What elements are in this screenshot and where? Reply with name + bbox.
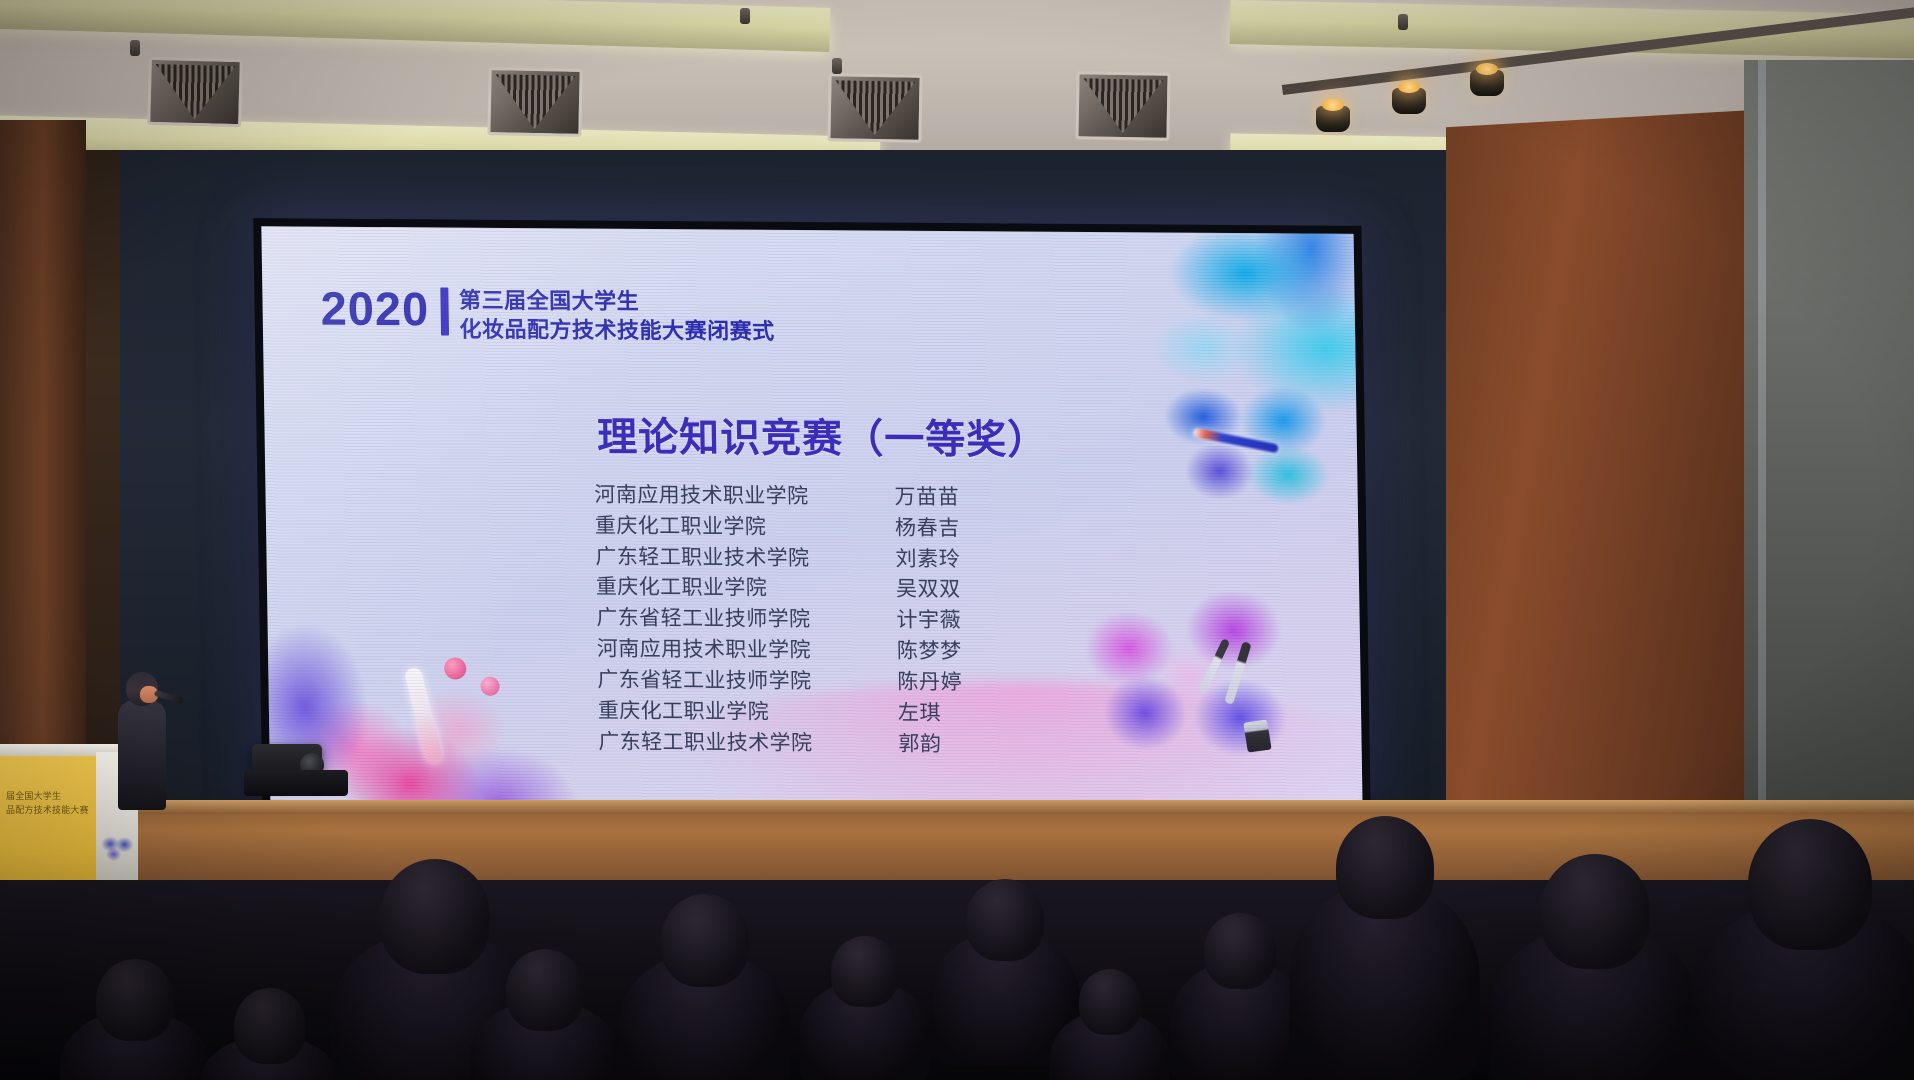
- auditorium-photo: 2020 第三届全国大学生 化妆品配方技术技能大赛闭赛式 理论知识竞赛（一等奖）…: [0, 0, 1914, 1080]
- winner-school: 重庆化工职业学院: [596, 573, 897, 605]
- cosmetic-applicator-icon: [444, 657, 466, 679]
- winner-row: 河南应用技术职业学院万苗苗: [594, 480, 1067, 513]
- cosmetic-tube-icon: [404, 667, 444, 764]
- air-vent-icon: [1075, 71, 1170, 141]
- audience-member-head: [966, 879, 1044, 961]
- audience-member-head: [1748, 819, 1873, 950]
- right-side-panel: [1744, 60, 1914, 900]
- winner-row: 广东轻工职业技术学院刘素玲: [595, 542, 1068, 575]
- winner-row: 重庆化工职业学院杨春吉: [595, 511, 1068, 544]
- winner-name: 吴双双: [896, 575, 961, 605]
- award-category-label: 理论知识竞赛（一等奖）: [597, 405, 1049, 466]
- winner-name: 陈丹婷: [897, 667, 962, 697]
- header-divider: [440, 287, 449, 335]
- winner-row: 河南应用技术职业学院陈梦梦: [597, 635, 1070, 668]
- winner-name: 计宇薇: [896, 606, 961, 636]
- winners-list: 河南应用技术职业学院万苗苗重庆化工职业学院杨春吉广东轻工职业技术学院刘素玲重庆化…: [594, 480, 1070, 760]
- winner-name: 郭韵: [898, 729, 942, 759]
- sprinkler-icon: [130, 40, 140, 56]
- audience-member-head: [234, 988, 307, 1064]
- makeup-brush-icon: [1224, 641, 1251, 705]
- audience-member-head: [1540, 854, 1649, 969]
- winner-row: 广东省轻工业技师学院计宇薇: [596, 604, 1069, 637]
- ceiling-light-band: [0, 0, 830, 52]
- audience-member-head: [506, 949, 584, 1031]
- sprinkler-icon: [1398, 14, 1408, 30]
- winner-row: 广东轻工职业技术学院郭韵: [598, 727, 1071, 760]
- winner-school: 重庆化工职业学院: [595, 511, 896, 543]
- winner-school: 广东省轻工业技师学院: [596, 604, 897, 636]
- led-screen: 2020 第三届全国大学生 化妆品配方技术技能大赛闭赛式 理论知识竞赛（一等奖）…: [253, 218, 1371, 822]
- audience-member-head: [1079, 969, 1141, 1035]
- slide-header: 2020 第三届全国大学生 化妆品配方技术技能大赛闭赛式: [320, 285, 775, 345]
- podium-banner-line1: 届全国大学生: [6, 790, 102, 804]
- event-year: 2020: [320, 285, 429, 333]
- audience-member-head: [1336, 816, 1435, 920]
- winner-school: 广东省轻工业技师学院: [597, 665, 898, 697]
- speaker-body: [118, 700, 166, 810]
- event-name-line1: 第三届全国大学生: [459, 288, 774, 316]
- audience-member-head: [661, 894, 749, 987]
- stage-spotlight: [1470, 70, 1504, 96]
- camera-rig: [244, 770, 348, 796]
- winner-name: 刘素玲: [895, 544, 960, 574]
- audience-member-head: [1204, 913, 1277, 989]
- air-vent-icon: [487, 67, 582, 137]
- air-vent-icon: [827, 73, 922, 143]
- stage-spotlight: [1392, 88, 1426, 114]
- sprinkler-icon: [740, 8, 750, 24]
- winner-name: 左琪: [898, 698, 942, 728]
- makeup-brush-icon: [1198, 638, 1230, 694]
- winner-school: 河南应用技术职业学院: [594, 480, 895, 512]
- podium-butterfly-icon: [100, 832, 134, 862]
- event-name-line2: 化妆品配方技术技能大赛闭赛式: [459, 317, 774, 345]
- winner-row: 重庆化工职业学院左琪: [598, 696, 1071, 729]
- winner-school: 广东轻工职业技术学院: [598, 727, 899, 759]
- presentation-slide: 2020 第三届全国大学生 化妆品配方技术技能大赛闭赛式 理论知识竞赛（一等奖）…: [261, 226, 1362, 814]
- winner-school: 重庆化工职业学院: [598, 696, 899, 728]
- stage-edge: [0, 800, 1914, 814]
- right-wood-panel: [1446, 109, 1776, 887]
- purple-butterfly-icon: [1063, 576, 1316, 768]
- award-category-title: 理论知识竞赛（一等奖）: [264, 402, 1357, 468]
- sprinkler-icon: [832, 58, 842, 74]
- winner-name: 杨春吉: [895, 513, 960, 543]
- winner-school: 河南应用技术职业学院: [597, 635, 898, 667]
- makeup-brush-icon: [1243, 720, 1271, 753]
- audience-member-head: [380, 859, 489, 974]
- stage-spotlight: [1316, 106, 1350, 132]
- winner-name: 万苗苗: [894, 483, 959, 513]
- audience-member-head: [831, 936, 899, 1007]
- cosmetic-applicator-icon: [480, 677, 499, 696]
- winner-row: 重庆化工职业学院吴双双: [596, 573, 1069, 606]
- audience-member-head: [96, 959, 174, 1041]
- podium-banner-text: 届全国大学生 品配方技术技能大赛: [6, 790, 102, 817]
- podium-banner-line2: 品配方技术技能大赛: [6, 804, 102, 818]
- winner-row: 广东省轻工业技师学院陈丹婷: [597, 665, 1070, 698]
- winner-school: 广东轻工职业技术学院: [595, 542, 896, 574]
- winner-name: 陈梦梦: [897, 637, 962, 667]
- air-vent-icon: [147, 57, 243, 127]
